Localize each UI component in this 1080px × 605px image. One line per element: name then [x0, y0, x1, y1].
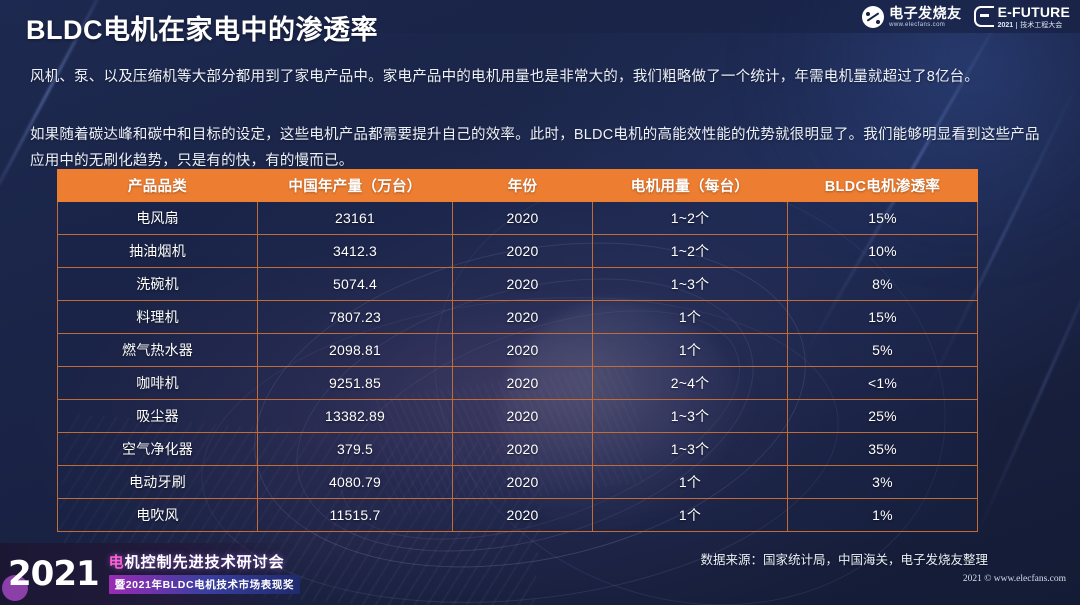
- cell-year: 2020: [453, 334, 593, 367]
- copyright-note: 2021 © www.elecfans.com: [963, 574, 1066, 584]
- cell-penetration: <1%: [788, 367, 978, 400]
- cell-year: 2020: [453, 499, 593, 532]
- cell-motor-usage: 1~3个: [593, 400, 788, 433]
- body-paragraph-1: 风机、泵、以及压缩机等大部分都用到了家电产品中。家电产品中的电机用量也是非常大的…: [30, 64, 1054, 90]
- cell-category: 空气净化器: [58, 433, 258, 466]
- page-title: BLDC电机在家电中的渗透率: [26, 8, 378, 47]
- table-header-row: 产品品类 中国年产量（万台） 年份 电机用量（每台） BLDC电机渗透率: [58, 170, 978, 202]
- cell-output: 23161: [258, 202, 453, 235]
- cell-year: 2020: [453, 466, 593, 499]
- cell-motor-usage: 1个: [593, 334, 788, 367]
- cell-motor-usage: 1~2个: [593, 202, 788, 235]
- cell-penetration: 3%: [788, 466, 978, 499]
- cell-penetration: 5%: [788, 334, 978, 367]
- cell-category: 吸尘器: [58, 400, 258, 433]
- elecfans-text: 电子发烧友 www.elecfans.com: [889, 6, 962, 28]
- column-header-category: 产品品类: [58, 170, 258, 202]
- cell-year: 2020: [453, 367, 593, 400]
- cell-penetration: 15%: [788, 301, 978, 334]
- efuture-subtitle: 2021 技术工程大会: [998, 22, 1070, 29]
- elecfans-url: www.elecfans.com: [889, 22, 962, 28]
- elecfans-name: 电子发烧友: [889, 6, 962, 20]
- penetration-table: 产品品类 中国年产量（万台） 年份 电机用量（每台） BLDC电机渗透率 电风扇…: [57, 169, 978, 532]
- cell-output: 11515.7: [258, 499, 453, 532]
- cell-category: 电风扇: [58, 202, 258, 235]
- header-logo-group: 电子发烧友 www.elecfans.com E-FUTURE 2021 技术工…: [862, 5, 1070, 29]
- cell-category: 电动牙刷: [58, 466, 258, 499]
- cell-category: 咖啡机: [58, 367, 258, 400]
- efuture-name: E-FUTURE: [998, 5, 1070, 19]
- efuture-bracket-icon: [974, 6, 994, 27]
- slide-canvas: 电子发烧友 www.elecfans.com E-FUTURE 2021 技术工…: [0, 0, 1080, 605]
- efuture-sub-label: 技术工程大会: [1020, 22, 1062, 29]
- cell-penetration: 1%: [788, 499, 978, 532]
- cell-year: 2020: [453, 235, 593, 268]
- data-table-wrapper: 产品品类 中国年产量（万台） 年份 电机用量（每台） BLDC电机渗透率 电风扇…: [57, 169, 977, 532]
- table-body: 电风扇 23161 2020 1~2个 15% 抽油烟机 3412.3 2020…: [58, 202, 978, 532]
- table-row: 洗碗机 5074.4 2020 1~3个 8%: [58, 268, 978, 301]
- event-title-rest: 机控制先进技术研讨会: [125, 554, 285, 571]
- cell-motor-usage: 1个: [593, 466, 788, 499]
- logo-efuture[interactable]: E-FUTURE 2021 技术工程大会: [974, 5, 1070, 29]
- cell-motor-usage: 1个: [593, 499, 788, 532]
- cell-output: 4080.79: [258, 466, 453, 499]
- cell-year: 2020: [453, 202, 593, 235]
- cell-motor-usage: 1~3个: [593, 433, 788, 466]
- cell-output: 3412.3: [258, 235, 453, 268]
- event-logo[interactable]: 2021 电机控制先进技术研讨会 暨2021年BLDC电机技术市场表现奖: [0, 543, 300, 605]
- efuture-text: E-FUTURE 2021 技术工程大会: [998, 5, 1070, 29]
- column-header-motor-usage: 电机用量（每台）: [593, 170, 788, 202]
- cell-category: 料理机: [58, 301, 258, 334]
- table-row: 吸尘器 13382.89 2020 1~3个 25%: [58, 400, 978, 433]
- elecfans-circle-icon: [862, 6, 884, 28]
- cell-category: 电吹风: [58, 499, 258, 532]
- table-row: 电风扇 23161 2020 1~2个 15%: [58, 202, 978, 235]
- cell-year: 2020: [453, 301, 593, 334]
- cell-penetration: 10%: [788, 235, 978, 268]
- table-row: 抽油烟机 3412.3 2020 1~2个 10%: [58, 235, 978, 268]
- cell-output: 7807.23: [258, 301, 453, 334]
- cell-motor-usage: 2~4个: [593, 367, 788, 400]
- cell-output: 379.5: [258, 433, 453, 466]
- event-text-group: 电机控制先进技术研讨会 暨2021年BLDC电机技术市场表现奖: [109, 554, 300, 594]
- divider: [1016, 22, 1017, 29]
- light-streak-icon: [972, 215, 1080, 545]
- table-row: 料理机 7807.23 2020 1个 15%: [58, 301, 978, 334]
- event-title: 电机控制先进技术研讨会: [109, 554, 300, 571]
- cell-penetration: 35%: [788, 433, 978, 466]
- column-header-year: 年份: [453, 170, 593, 202]
- efuture-year: 2021: [998, 22, 1014, 29]
- cell-motor-usage: 1~2个: [593, 235, 788, 268]
- cell-year: 2020: [453, 268, 593, 301]
- cell-output: 9251.85: [258, 367, 453, 400]
- event-year: 2021: [8, 554, 99, 594]
- column-header-penetration: BLDC电机渗透率: [788, 170, 978, 202]
- table-head: 产品品类 中国年产量（万台） 年份 电机用量（每台） BLDC电机渗透率: [58, 170, 978, 202]
- cell-motor-usage: 1个: [593, 301, 788, 334]
- event-subtitle: 暨2021年BLDC电机技术市场表现奖: [109, 575, 300, 594]
- cell-output: 2098.81: [258, 334, 453, 367]
- cell-penetration: 15%: [788, 202, 978, 235]
- cell-motor-usage: 1~3个: [593, 268, 788, 301]
- logo-elecfans[interactable]: 电子发烧友 www.elecfans.com: [862, 6, 962, 28]
- data-source-note: 数据来源：国家统计局，中国海关，电子发烧友整理: [700, 549, 988, 568]
- cell-year: 2020: [453, 400, 593, 433]
- cell-output: 5074.4: [258, 268, 453, 301]
- table-row: 咖啡机 9251.85 2020 2~4个 <1%: [58, 367, 978, 400]
- cell-penetration: 25%: [788, 400, 978, 433]
- cell-category: 燃气热水器: [58, 334, 258, 367]
- table-row: 空气净化器 379.5 2020 1~3个 35%: [58, 433, 978, 466]
- column-header-output: 中国年产量（万台）: [258, 170, 453, 202]
- event-title-highlight: 电: [109, 554, 125, 571]
- cell-category: 洗碗机: [58, 268, 258, 301]
- table-row: 燃气热水器 2098.81 2020 1个 5%: [58, 334, 978, 367]
- cell-output: 13382.89: [258, 400, 453, 433]
- table-row: 电动牙刷 4080.79 2020 1个 3%: [58, 466, 978, 499]
- cell-category: 抽油烟机: [58, 235, 258, 268]
- cell-year: 2020: [453, 433, 593, 466]
- body-paragraph-2: 如果随着碳达峰和碳中和目标的设定，这些电机产品都需要提升自己的效率。此时，BLD…: [30, 122, 1054, 174]
- table-row: 电吹风 11515.7 2020 1个 1%: [58, 499, 978, 532]
- cell-penetration: 8%: [788, 268, 978, 301]
